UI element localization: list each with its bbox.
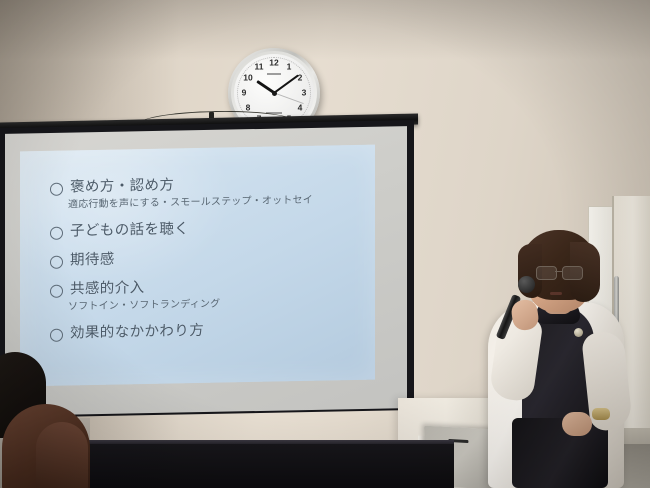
slide-bullet-text: 褒め方・認め方: [70, 176, 174, 196]
clock-numeral: 9: [237, 89, 251, 98]
slide-bullet-list: 褒め方・認め方適応行動を声にする・スモールステップ・オットセイ子どもの話を聴く期…: [50, 173, 370, 354]
projected-slide: 褒め方・認め方適応行動を声にする・スモールステップ・オットセイ子どもの話を聴く期…: [20, 145, 375, 387]
glasses-right-lens: [562, 266, 583, 280]
wall-shadow-top: [0, 0, 650, 60]
slide-bullet-text: 期待感: [70, 251, 115, 270]
photo-scene: 121234567891011 褒め方・認め方適応行動を声にする・スモールステッ…: [0, 0, 650, 488]
clock-numeral: 10: [241, 74, 255, 83]
clock-numeral: 12: [267, 59, 281, 68]
glasses-icon: [536, 266, 584, 279]
clock-numeral: 3: [297, 89, 311, 98]
glasses-left-lens: [536, 266, 557, 280]
microphone-head-icon: [518, 276, 535, 293]
presenter-skirt: [512, 418, 608, 488]
audience-head-brown-2: [36, 422, 88, 488]
slide-bullet-text: 子どもの話を聴く: [70, 220, 189, 240]
glasses-bridge: [555, 271, 562, 272]
circle-bullet-icon: [50, 183, 63, 196]
circle-bullet-icon: [50, 285, 63, 298]
clock-numeral: 11: [252, 63, 266, 72]
clock-numeral: 1: [282, 63, 296, 72]
slide-bullet-text: 効果的なかかわり方: [70, 322, 204, 343]
slide-bullet-text: 共感的介入: [70, 279, 145, 298]
presenter-mouth: [550, 292, 562, 295]
projector-screen: 褒め方・認め方適応行動を声にする・スモールステップ・オットセイ子どもの話を聴く期…: [0, 118, 420, 418]
clock-numeral: 4: [293, 104, 307, 113]
circle-bullet-icon: [50, 256, 63, 269]
presenter-right-hand: [562, 412, 592, 436]
presenter-brooch: [574, 328, 583, 337]
foreground-table: [74, 444, 454, 488]
presenter-wristwatch: [592, 408, 610, 420]
presenter: [470, 236, 650, 488]
clock-center-pin: [272, 91, 277, 96]
circle-bullet-icon: [50, 329, 63, 342]
circle-bullet-icon: [50, 227, 63, 240]
